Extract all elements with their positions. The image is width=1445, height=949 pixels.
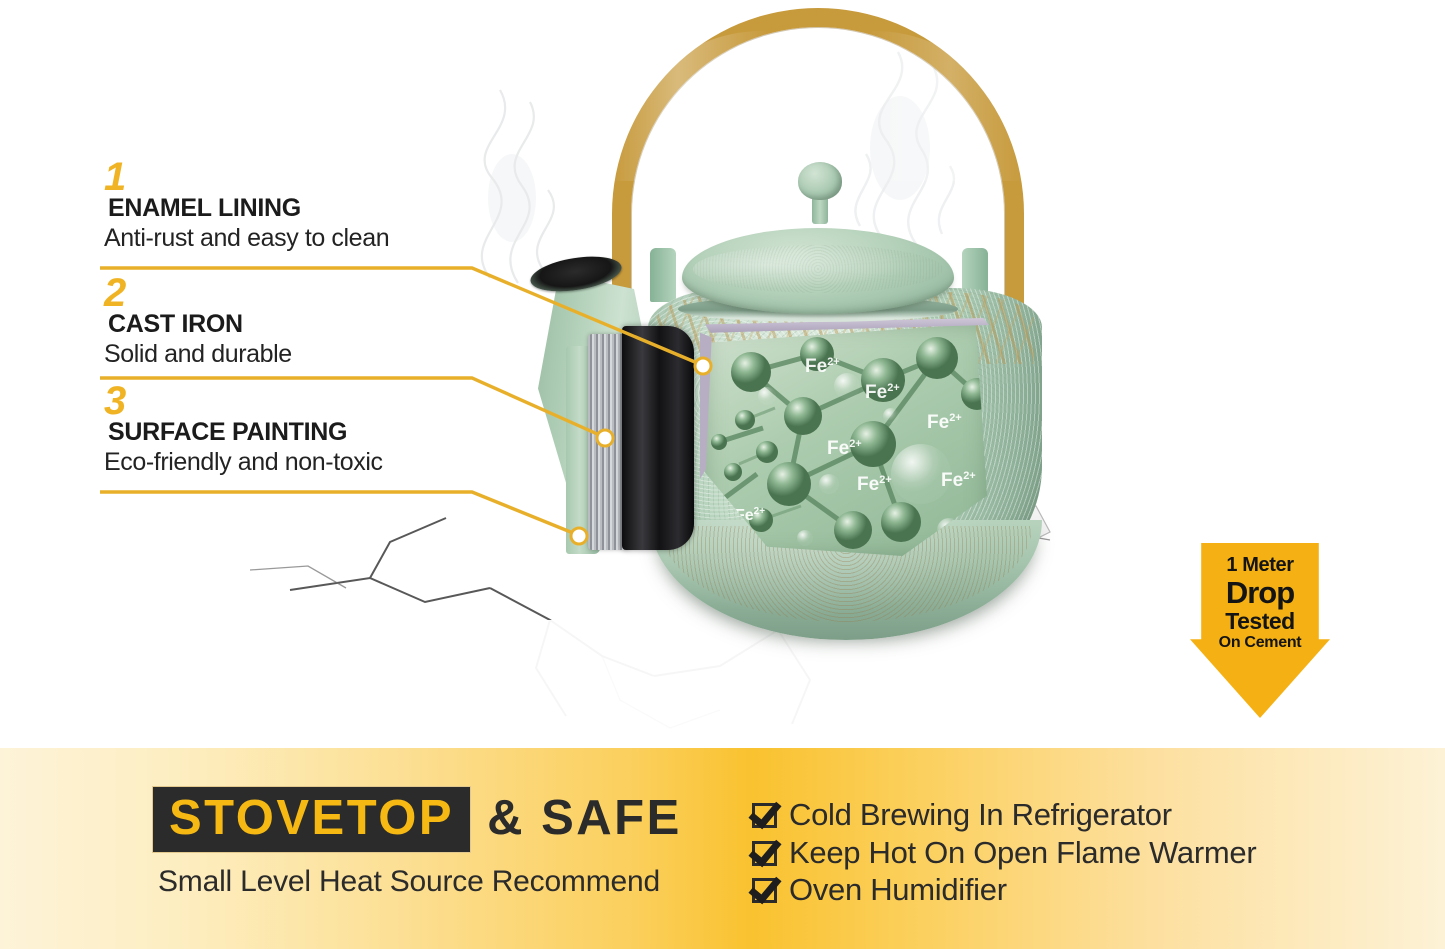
drop-line-3: Tested: [1225, 609, 1294, 633]
drop-tested-badge: 1 Meter Drop Tested On Cement: [1190, 543, 1330, 718]
callout-title: ENAMEL LINING: [108, 194, 389, 224]
usage-checklist: Cold Brewing In Refrigerator Keep Hot On…: [752, 798, 1256, 911]
checklist-item: Cold Brewing In Refrigerator: [752, 798, 1256, 833]
drop-badge-text: 1 Meter Drop Tested On Cement: [1190, 543, 1330, 663]
feature-callouts: 1 ENAMEL LINING Anti-rust and easy to cl…: [0, 0, 620, 560]
callout-enamel-lining: 1 ENAMEL LINING Anti-rust and easy to cl…: [100, 158, 389, 253]
checkbox-checked-icon: [752, 803, 777, 828]
callout-surface-painting: 3 SURFACE PAINTING Eco-friendly and non-…: [100, 382, 383, 477]
checklist-item: Keep Hot On Open Flame Warmer: [752, 836, 1256, 871]
checklist-label: Cold Brewing In Refrigerator: [789, 798, 1172, 833]
drop-line-1: 1 Meter: [1226, 555, 1293, 576]
checkbox-checked-icon: [752, 878, 777, 903]
callout-title: SURFACE PAINTING: [108, 418, 383, 448]
bottom-banner: STOVETOP & SAFE Small Level Heat Source …: [0, 748, 1445, 949]
checklist-label: Keep Hot On Open Flame Warmer: [789, 836, 1256, 871]
stovetop-boxed-word: STOVETOP: [152, 786, 471, 853]
callout-subtitle: Eco-friendly and non-toxic: [104, 447, 383, 477]
drop-line-4: On Cement: [1219, 635, 1302, 652]
callout-cast-iron: 2 CAST IRON Solid and durable: [100, 274, 292, 369]
callout-number: 3: [104, 382, 383, 420]
stovetop-subline: Small Level Heat Source Recommend: [158, 865, 682, 899]
checklist-label: Oven Humidifier: [789, 873, 1007, 908]
callout-subtitle: Anti-rust and easy to clean: [104, 223, 389, 253]
callout-subtitle: Solid and durable: [104, 339, 292, 369]
drop-line-2: Drop: [1226, 577, 1294, 608]
callout-title: CAST IRON: [108, 310, 292, 340]
stovetop-safe-word: & SAFE: [487, 794, 682, 843]
checkbox-checked-icon: [752, 841, 777, 866]
checklist-item: Oven Humidifier: [752, 873, 1256, 908]
infographic-stage: Fe2+ Fe2+ Fe2+ Fe2+ Fe2+ Fe2+ Fe2+: [0, 0, 1445, 949]
callout-number: 2: [104, 274, 292, 312]
callout-number: 1: [104, 158, 389, 196]
stovetop-headline-block: STOVETOP & SAFE Small Level Heat Source …: [152, 786, 682, 899]
